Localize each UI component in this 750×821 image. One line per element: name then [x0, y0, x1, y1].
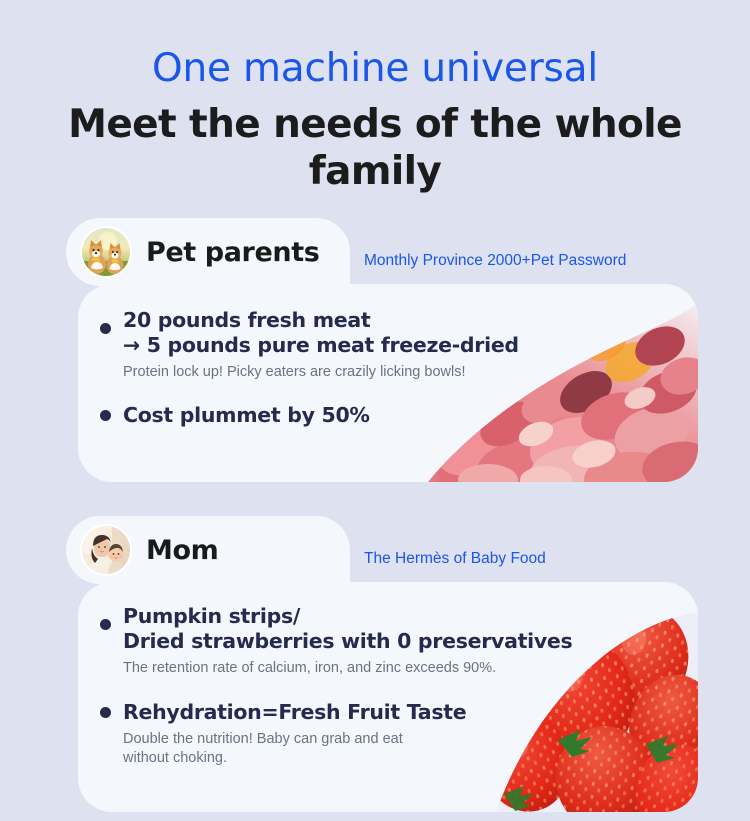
bullet-title-line1: Pumpkin strips/ [123, 604, 698, 629]
bullet-list-mom: Pumpkin strips/ Dried strawberries with … [78, 582, 698, 768]
bullet-item: Pumpkin strips/ Dried strawberries with … [100, 604, 698, 678]
corgi-dogs-photo-icon [82, 228, 130, 276]
bullet-subtext: Protein lock up! Picky eaters are crazil… [123, 363, 698, 382]
card-mom: Pumpkin strips/ Dried strawberries with … [66, 516, 698, 812]
card-body-pet-parents: 20 pounds fresh meat → 5 pounds pure mea… [78, 284, 698, 482]
bullet-title-line1: Rehydration=Fresh Fruit Taste [123, 700, 698, 725]
bullet-title-line2: → 5 pounds pure meat freeze-dried [123, 333, 698, 358]
page-headline: One machine universal Meet the needs of … [0, 0, 750, 196]
bullet-list-pet-parents: 20 pounds fresh meat → 5 pounds pure mea… [78, 284, 698, 428]
card-pet-parents: 20 pounds fresh meat → 5 pounds pure mea… [66, 218, 698, 483]
bullet-item: Rehydration=Fresh Fruit Taste Double the… [100, 700, 698, 768]
card-title-label: Pet parents [146, 237, 319, 268]
mother-and-baby-photo-icon [82, 526, 130, 574]
bullet-dot-icon [100, 323, 111, 334]
bullet-item: Cost plummet by 50% [100, 403, 698, 428]
card-tagline-mom: The Hermès of Baby Food [364, 550, 546, 568]
bullet-title-line1: Cost plummet by 50% [123, 403, 698, 428]
card-body-mom: Pumpkin strips/ Dried strawberries with … [78, 582, 698, 812]
card-tagline-pet-parents: Monthly Province 2000+Pet Password [364, 252, 626, 270]
bullet-title-line1: 20 pounds fresh meat [123, 308, 698, 333]
bullet-dot-icon [100, 619, 111, 630]
headline-main-line: Meet the needs of the whole family [0, 102, 750, 196]
bullet-subtext: Double the nutrition! Baby can grab and … [123, 730, 698, 768]
card-title-label: Mom [146, 535, 218, 566]
bullet-title-line2: Dried strawberries with 0 preservatives [123, 629, 698, 654]
bullet-dot-icon [100, 707, 111, 718]
card-header-pet-parents[interactable]: Pet parents [66, 218, 350, 286]
bullet-dot-icon [100, 410, 111, 421]
bullet-subtext: The retention rate of calcium, iron, and… [123, 659, 698, 678]
headline-accent-line: One machine universal [0, 46, 750, 92]
bullet-item: 20 pounds fresh meat → 5 pounds pure mea… [100, 308, 698, 382]
card-header-mom[interactable]: Mom [66, 516, 350, 584]
